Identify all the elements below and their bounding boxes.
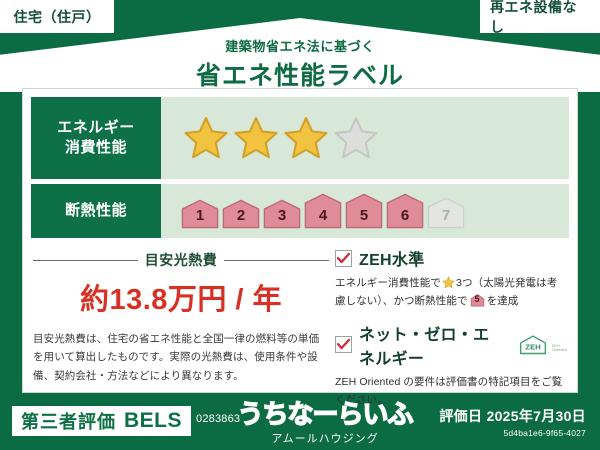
insulation-rank-number: 1 xyxy=(181,207,219,224)
cost-rule-right xyxy=(224,260,329,261)
insulation-rank-number: 6 xyxy=(386,207,424,224)
net-zero-checkbox[interactable] xyxy=(335,336,352,353)
insulation-rank-number: 3 xyxy=(263,207,301,224)
net-zero-energy-block: ネット・ゼロ・エネルギー ZEH ZEH Oriented xyxy=(335,321,567,410)
insulation-rank-achieved: 6 xyxy=(386,193,424,229)
inline-house-badge: 5 xyxy=(470,293,485,308)
cost-note: 目安光熱費は、住宅の省エネ性能と全国一律の燃料等の単価を用いて算出したものです。… xyxy=(33,330,329,385)
watermark: うちなーらいふ アムールハウジング xyxy=(235,401,415,446)
svg-text:ZEH: ZEH xyxy=(525,342,541,351)
lower-section: 目安光熱費 約13.8万円 / 年 目安光熱費は、住宅の省エネ性能と全国一律の燃… xyxy=(23,238,577,420)
main-card: エネルギー 消費性能 断熱性能 1234567 目安光熱費 xyxy=(22,88,578,393)
cost-section: 目安光熱費 約13.8万円 / 年 目安光熱費は、住宅の省エネ性能と全国一律の燃… xyxy=(33,246,329,420)
cost-heading: 目安光熱費 xyxy=(33,250,329,270)
zeh-standard-title-row: ZEH水準 xyxy=(335,246,567,270)
zeh-standard-checkbox[interactable] xyxy=(335,250,352,267)
insulation-rank-achieved: 2 xyxy=(222,199,260,229)
insulation-performance-label: 断熱性能 xyxy=(31,184,161,238)
energy-label-line2: 消費性能 xyxy=(65,138,127,158)
tag-renewable-energy: 再エネ設備なし xyxy=(478,0,600,33)
energy-performance-label: 建築物省エネ法に基づく 省エネ性能ラベル 住宅（住戸） 再エネ設備なし エネルギ… xyxy=(0,0,600,450)
check-icon xyxy=(337,339,350,350)
zeh-house-logo-icon: ZEH xyxy=(516,334,550,356)
zeh-standard-description: エネルギー消費性能で 3つ（太陽光発電は考慮しない）、かつ断熱性能で 5 を達成 xyxy=(335,274,567,311)
insulation-rank-achieved: 5 xyxy=(345,193,383,229)
bels-jp-text: 第三者評価 xyxy=(21,408,116,434)
bels-en-text: BELS xyxy=(124,409,182,433)
energy-star-area xyxy=(161,97,569,179)
insulation-rank-achieved: 4 xyxy=(304,193,342,229)
star-filled-icon xyxy=(183,115,229,161)
zeh-logo: ZEH ZEH Oriented xyxy=(516,334,567,356)
evaluation-date-value: 2025年7月30日 xyxy=(486,408,586,424)
header-title: 省エネ性能ラベル xyxy=(0,56,600,92)
watermark-sub: アムールハウジング xyxy=(235,430,415,446)
energy-performance-row: エネルギー 消費性能 xyxy=(31,97,569,179)
check-icon xyxy=(337,253,350,264)
insulation-rank-scale: 1234567 xyxy=(161,193,465,229)
insulation-scale-area: 1234567 xyxy=(161,184,569,238)
star-empty-icon xyxy=(333,115,379,161)
insulation-performance-row: 断熱性能 1234567 xyxy=(31,184,569,238)
zeh-standard-title: ZEH水準 xyxy=(359,246,425,270)
evaluation-date: 評価日 2025年7月30日 xyxy=(439,406,586,426)
insulation-rank-number: 5 xyxy=(345,207,383,224)
insulation-rank-number: 4 xyxy=(304,207,342,224)
watermark-main: うちなーらいふ xyxy=(235,401,415,427)
insulation-rank-number: 2 xyxy=(222,207,260,224)
insulation-label-text: 断熱性能 xyxy=(65,201,127,221)
cost-heading-text: 目安光熱費 xyxy=(145,250,218,270)
insulation-rank-inactive: 7 xyxy=(427,197,465,229)
zeh-section: ZEH水準 エネルギー消費性能で 3つ（太陽光発電は考慮しない）、かつ断熱性能で… xyxy=(329,246,567,420)
evaluation-uid: 5d4ba1e6-9f65-4027 xyxy=(439,428,586,438)
cost-value: 約13.8万円 / 年 xyxy=(33,276,329,318)
star-rating xyxy=(161,115,379,161)
net-zero-title-row: ネット・ゼロ・エネルギー ZEH ZEH Oriented xyxy=(335,321,567,369)
net-zero-title: ネット・ゼロ・エネルギー xyxy=(359,321,506,369)
zeh-desc-pre: エネルギー消費性能で xyxy=(335,277,441,289)
star-filled-icon xyxy=(283,115,329,161)
evaluation-date-label: 評価日 xyxy=(439,408,482,424)
energy-label-line1: エネルギー xyxy=(57,118,135,138)
insulation-rank-number: 7 xyxy=(427,207,465,224)
zeh-logo-tiny-2: Oriented xyxy=(552,348,567,352)
zeh-standard-block: ZEH水準 エネルギー消費性能で 3つ（太陽光発電は考慮しない）、かつ断熱性能で… xyxy=(335,246,567,311)
tag-building-type: 住宅（住戸） xyxy=(0,0,116,33)
inline-house-number: 5 xyxy=(470,292,485,308)
inline-star-icon xyxy=(442,276,455,289)
zeh-desc-post: を達成 xyxy=(487,295,519,307)
evaluation-info: 評価日 2025年7月30日 5d4ba1e6-9f65-4027 xyxy=(439,406,586,438)
cost-rule-left xyxy=(33,260,138,261)
energy-performance-label: エネルギー 消費性能 xyxy=(31,97,161,179)
bels-logo: 第三者評価 BELS xyxy=(12,406,191,436)
footer-bar: 第三者評価 BELS 0283863 評価日 2025年7月30日 5d4ba1… xyxy=(0,398,600,450)
certificate-number: 0283863 xyxy=(196,413,240,425)
insulation-rank-achieved: 3 xyxy=(263,199,301,229)
star-filled-icon xyxy=(233,115,279,161)
insulation-rank-achieved: 1 xyxy=(181,199,219,229)
label-header: 建築物省エネ法に基づく 省エネ性能ラベル xyxy=(0,36,600,92)
header-subtitle: 建築物省エネ法に基づく xyxy=(0,36,600,55)
